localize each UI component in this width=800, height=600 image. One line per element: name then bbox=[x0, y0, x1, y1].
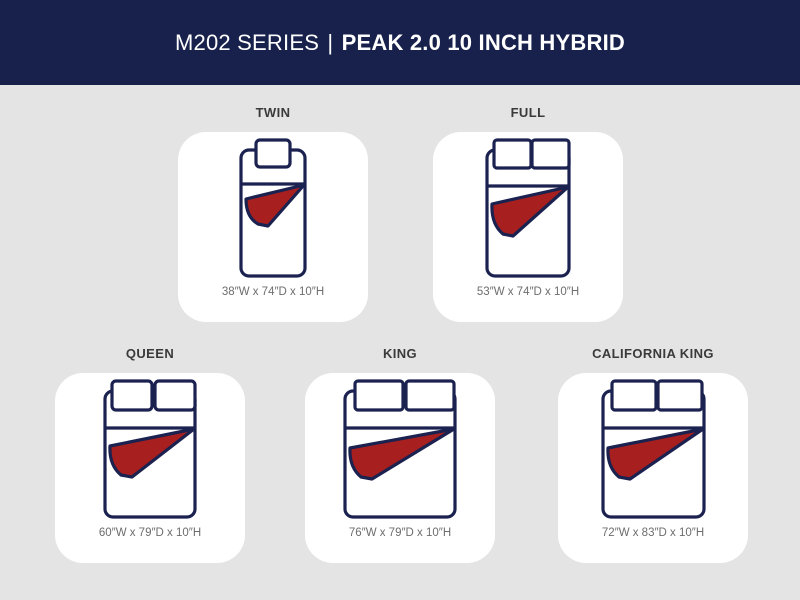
size-block-king[interactable]: KING 76″W x 79″D x 10″H bbox=[305, 347, 495, 563]
size-guide-page: M202 SERIES | PEAK 2.0 10 INCH HYBRID TW… bbox=[0, 0, 800, 600]
size-block-california-king[interactable]: CALIFORNIA KING 72″W x 83″D x 10″H bbox=[558, 347, 748, 563]
header-series-label: M202 SERIES bbox=[175, 30, 319, 55]
bed-california-king-icon bbox=[558, 373, 748, 528]
size-card-california-king[interactable]: 72″W x 83″D x 10″H bbox=[558, 373, 748, 563]
size-dimensions-queen: 60″W x 79″D x 10″H bbox=[99, 528, 201, 540]
size-block-twin[interactable]: TWIN 38″W x 74″D x 10″H bbox=[178, 106, 368, 322]
size-dimensions-california-king: 72″W x 83″D x 10″H bbox=[602, 528, 704, 540]
size-label-king: KING bbox=[383, 347, 417, 360]
bed-full-icon bbox=[433, 132, 623, 287]
size-card-king[interactable]: 76″W x 79″D x 10″H bbox=[305, 373, 495, 563]
size-label-california-king: CALIFORNIA KING bbox=[592, 347, 714, 360]
header-separator: | bbox=[325, 30, 335, 55]
size-block-full[interactable]: FULL 53″W x 74″D x 10″H bbox=[433, 106, 623, 322]
bed-twin-icon bbox=[178, 132, 368, 287]
header-bar: M202 SERIES | PEAK 2.0 10 INCH HYBRID bbox=[0, 0, 800, 85]
size-label-full: FULL bbox=[511, 106, 546, 119]
size-dimensions-twin: 38″W x 74″D x 10″H bbox=[222, 287, 324, 299]
size-label-twin: TWIN bbox=[256, 106, 291, 119]
bed-king-icon bbox=[305, 373, 495, 528]
size-dimensions-king: 76″W x 79″D x 10″H bbox=[349, 528, 451, 540]
size-card-twin[interactable]: 38″W x 74″D x 10″H bbox=[178, 132, 368, 322]
bed-queen-icon bbox=[55, 373, 245, 528]
size-block-queen[interactable]: QUEEN 60″W x 79″D x 10″H bbox=[55, 347, 245, 563]
size-card-full[interactable]: 53″W x 74″D x 10″H bbox=[433, 132, 623, 322]
size-label-queen: QUEEN bbox=[126, 347, 174, 360]
page-title: M202 SERIES | PEAK 2.0 10 INCH HYBRID bbox=[175, 32, 625, 54]
size-dimensions-full: 53″W x 74″D x 10″H bbox=[477, 287, 579, 299]
header-model-label: PEAK 2.0 10 INCH HYBRID bbox=[342, 30, 625, 55]
size-card-queen[interactable]: 60″W x 79″D x 10″H bbox=[55, 373, 245, 563]
